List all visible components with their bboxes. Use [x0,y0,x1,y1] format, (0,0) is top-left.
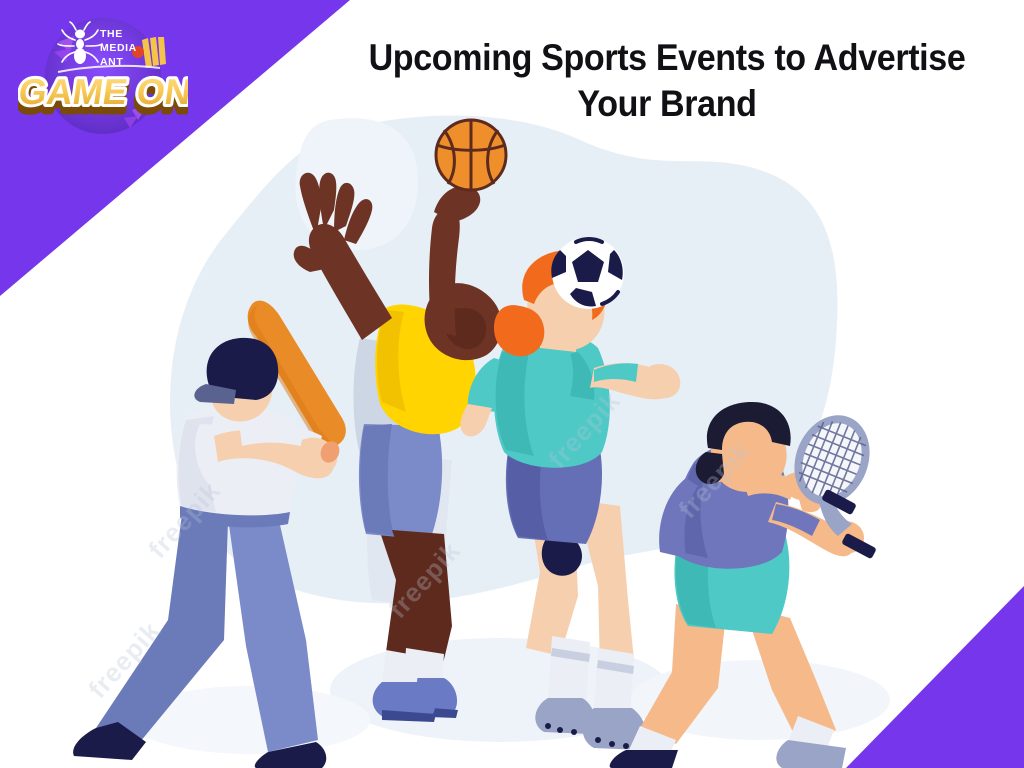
logo-brand-line-2: MEDIA [100,42,137,54]
logo-wordmark-fill: GAME ON [18,71,188,112]
basketball-icon [436,120,506,190]
brand-logo[interactable]: THE MEDIA ANT GAME ON GAME ON GAME ON [18,6,188,146]
logo-brand-line-1: THE [100,28,123,40]
poster-canvas: freepik freepik freepik freepik freepik [0,0,1024,768]
page-title: Upcoming Sports Events to Advertise Your… [350,35,985,128]
page-title-line-1: Upcoming Sports Events to Advertise [369,37,966,78]
page-title-line-2: Your Brand [577,83,756,124]
logo-wordmark: GAME ON GAME ON GAME ON [18,71,188,119]
